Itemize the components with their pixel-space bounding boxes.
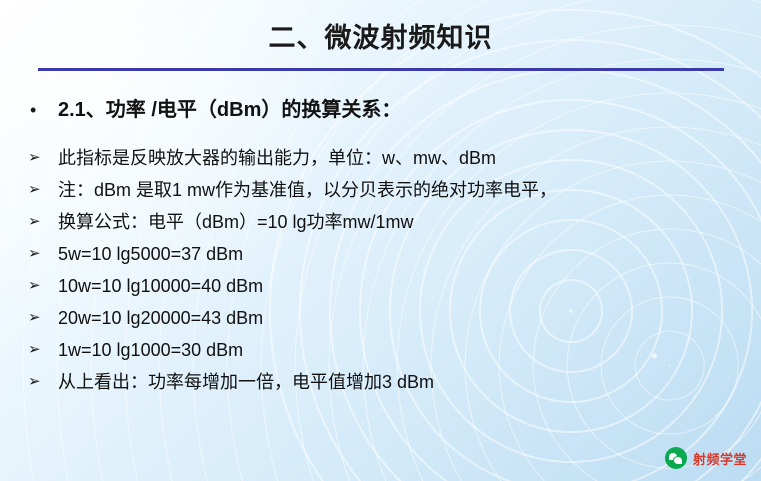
list-item: ➢ 10w=10 lg10000=40 dBm: [26, 273, 736, 299]
list-item-label: 从上看出：功率每增加一倍，电平值增加3 dBm: [58, 369, 434, 395]
list-item-label: 5w=10 lg5000=37 dBm: [58, 241, 243, 267]
arrow-bullet-icon: ➢: [26, 305, 58, 331]
wechat-icon: [665, 447, 687, 469]
list-item-label: 10w=10 lg10000=40 dBm: [58, 273, 263, 299]
arrow-bullet-icon: ➢: [26, 273, 58, 299]
footer-brand: 射频学堂: [665, 447, 747, 469]
arrow-bullet-icon: ➢: [26, 337, 58, 363]
list-item-label: 20w=10 lg20000=43 dBm: [58, 305, 263, 331]
list-item: ➢ 换算公式：电平（dBm）=10 lg功率mw/1mw: [26, 209, 736, 235]
main-bullet-label: 2.1、功率 /电平（dBm）的换算关系：: [58, 97, 401, 123]
list-item: ➢ 此指标是反映放大器的输出能力，单位：w、mw、dBm: [26, 145, 736, 171]
arrow-bullet-icon: ➢: [26, 209, 58, 235]
slide-content: 二、微波射频知识 • 2.1、功率 /电平（dBm）的换算关系： ➢ 此指标是反…: [0, 0, 761, 481]
main-bullet: • 2.1、功率 /电平（dBm）的换算关系：: [30, 97, 730, 123]
arrow-bullet-icon: ➢: [26, 145, 58, 171]
title-divider: [38, 68, 724, 71]
list-item-label: 注：dBm 是取1 mw作为基准值，以分贝表示的绝对功率电平，: [58, 177, 557, 203]
bullet-list: ➢ 此指标是反映放大器的输出能力，单位：w、mw、dBm ➢ 注：dBm 是取1…: [26, 145, 736, 401]
slide-canvas: 二、微波射频知识 • 2.1、功率 /电平（dBm）的换算关系： ➢ 此指标是反…: [0, 0, 761, 481]
list-item: ➢ 20w=10 lg20000=43 dBm: [26, 305, 736, 331]
page-title: 二、微波射频知识: [0, 16, 761, 55]
list-item: ➢ 1w=10 lg1000=30 dBm: [26, 337, 736, 363]
arrow-bullet-icon: ➢: [26, 177, 58, 203]
list-item-label: 换算公式：电平（dBm）=10 lg功率mw/1mw: [58, 209, 414, 235]
list-item-label: 1w=10 lg1000=30 dBm: [58, 337, 243, 363]
bullet-dot-icon: •: [30, 97, 58, 123]
list-item: ➢ 从上看出：功率每增加一倍，电平值增加3 dBm: [26, 369, 736, 395]
brand-name-label: 射频学堂: [693, 449, 747, 468]
arrow-bullet-icon: ➢: [26, 369, 58, 395]
list-item: ➢ 注：dBm 是取1 mw作为基准值，以分贝表示的绝对功率电平，: [26, 177, 736, 203]
arrow-bullet-icon: ➢: [26, 241, 58, 267]
list-item: ➢ 5w=10 lg5000=37 dBm: [26, 241, 736, 267]
list-item-label: 此指标是反映放大器的输出能力，单位：w、mw、dBm: [58, 145, 496, 171]
